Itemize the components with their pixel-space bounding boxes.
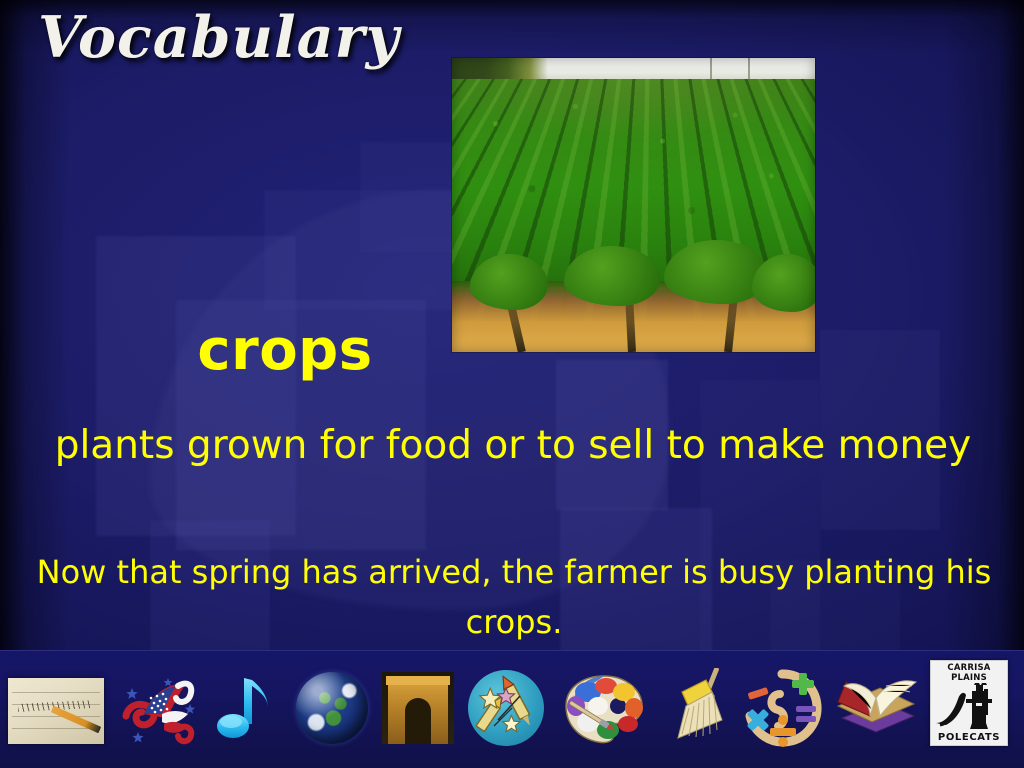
example-sentence: Now that spring has arrived, the farmer … [34,548,994,647]
logo-top-text: CARRISA PLAINS [931,661,1007,683]
polecat-mascot-icon [931,683,1007,732]
vocabulary-definition: plants grown for food or to sell to make… [48,422,978,470]
vocabulary-word: crops [120,320,450,383]
fireworks-icon [468,670,544,746]
subject-icon-bar: CARRISA PLAINS POLECATS [0,650,1024,768]
photo-frame [452,58,815,352]
earth-globe-icon [296,672,368,744]
logo-bottom-text: POLECATS [931,732,1007,745]
crop-field-photo [452,58,815,352]
page-title: Vocabulary [38,4,400,71]
open-book-icon [836,672,922,744]
art-palette-icon [562,672,646,746]
arc-de-triomphe-icon [382,672,454,744]
school-logo-icon: CARRISA PLAINS POLECATS [930,660,1008,746]
vocabulary-slide: Vocabulary crops plants grown for food o… [0,0,1024,768]
math-symbols-icon [740,668,824,748]
broom-icon [656,668,730,746]
writing-paper-icon [8,678,104,744]
flag-ribbon-icon [118,670,202,746]
music-note-icon [212,670,282,746]
